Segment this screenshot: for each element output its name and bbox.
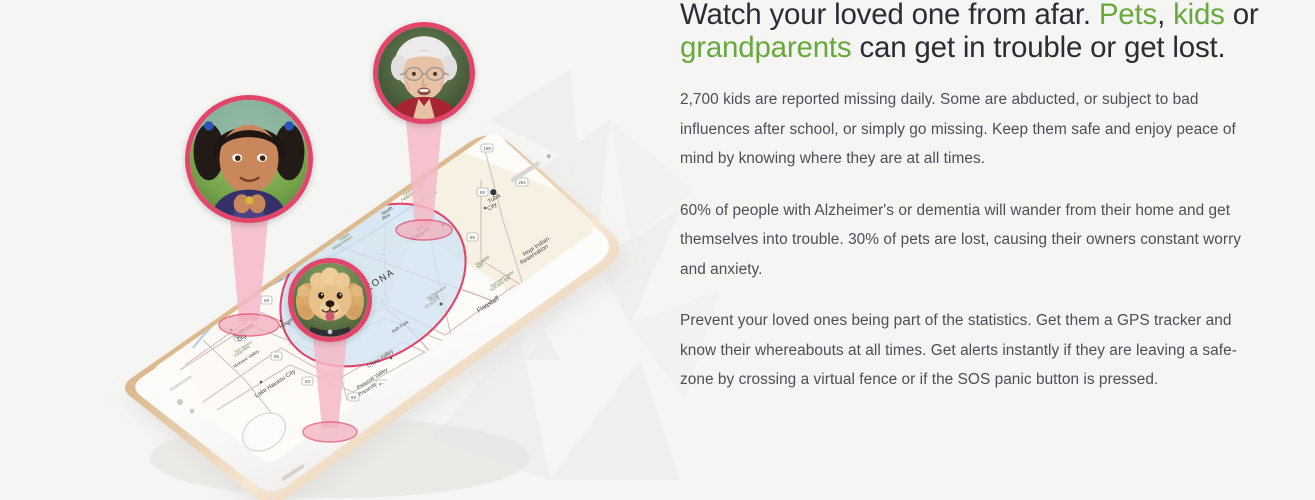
paragraph-missing-kids: 2,700 kids are reported missing daily. S… xyxy=(680,85,1270,174)
pet-marker-beam xyxy=(282,336,378,454)
proximity-sensor xyxy=(546,153,552,159)
headline-part-1: Watch your loved one from afar. xyxy=(680,0,1099,31)
grandparent-avatar xyxy=(373,22,475,124)
paragraph-gps-tracker: Prevent your loved ones being part of th… xyxy=(680,306,1270,395)
svg-text:89: 89 xyxy=(480,190,485,195)
hero-section: Colorado River xyxy=(0,0,1315,500)
headline-highlight-grandparents: grandparents xyxy=(680,31,851,64)
paragraph-alzheimers-pets: 60% of people with Alzheimer's or dement… xyxy=(680,196,1270,285)
headline-highlight-pets: Pets xyxy=(1099,0,1157,31)
headline-part-4: can get in trouble or get lost. xyxy=(851,31,1225,64)
phone-illustration: Colorado River xyxy=(85,80,655,500)
svg-text:160: 160 xyxy=(483,146,491,151)
kid-photo-marker[interactable] xyxy=(185,95,313,223)
grandparent-marker-beam xyxy=(374,118,474,253)
pet-photo-marker[interactable] xyxy=(288,258,372,342)
kid-avatar xyxy=(185,95,313,223)
svg-text:264: 264 xyxy=(518,180,526,185)
page-title: Watch your loved one from afar. Pets, ki… xyxy=(680,0,1270,64)
pet-avatar xyxy=(288,258,372,342)
headline-part-2: , xyxy=(1157,0,1173,31)
headline-part-3: or xyxy=(1225,0,1259,31)
dog-avatar-icon xyxy=(293,263,367,337)
headline-highlight-kids: kids xyxy=(1173,0,1225,31)
copy-column: Watch your loved one from afar. Pets, ki… xyxy=(680,0,1270,395)
child-avatar-icon xyxy=(190,100,308,218)
svg-text:95: 95 xyxy=(274,354,279,359)
grandparent-photo-marker[interactable] xyxy=(373,22,475,124)
elderly-avatar-icon xyxy=(378,27,470,119)
body-copy: 2,700 kids are reported missing daily. S… xyxy=(680,85,1270,395)
